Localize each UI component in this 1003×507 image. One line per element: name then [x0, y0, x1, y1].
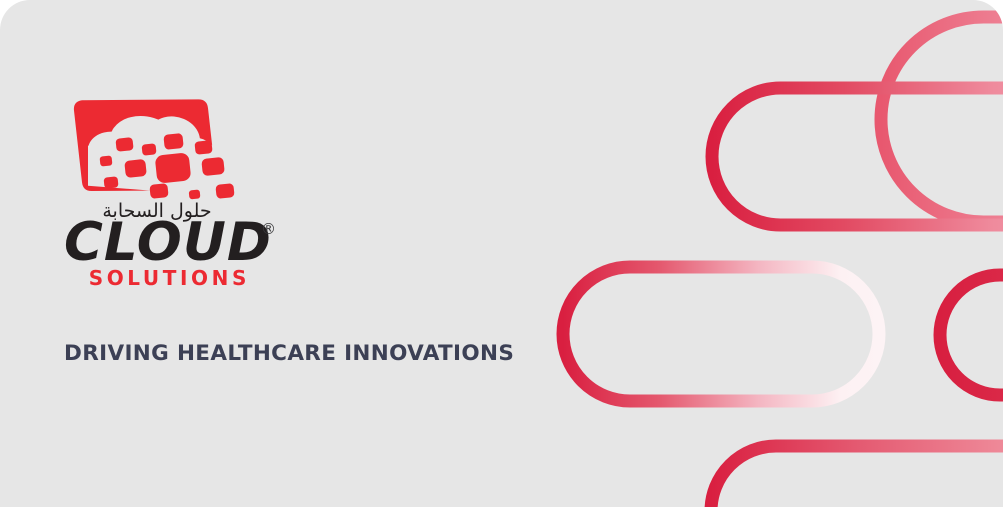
tagline: DRIVING HEALTHCARE INNOVATIONS [64, 341, 514, 366]
capsule-right-edge [940, 275, 1003, 395]
logo-wordmark: حلول السحابة CLOUD ® SOLUTIONS [64, 202, 324, 289]
registered-trademark-icon: ® [261, 222, 276, 237]
capsule-upper-large [712, 88, 1003, 225]
capsule-top-right-pink [881, 17, 1003, 222]
brand-logo: حلول السحابة CLOUD ® SOLUTIONS [64, 84, 324, 284]
brand-banner: حلول السحابة CLOUD ® SOLUTIONS DRIVING H… [0, 0, 1003, 507]
capsule-middle [563, 267, 879, 401]
capsule-bottom [711, 446, 1003, 507]
logo-cloud-row: CLOUD ® [64, 220, 264, 266]
cloud-tile-mark-icon [64, 84, 254, 214]
logo-cloud-text: CLOUD [64, 220, 264, 266]
